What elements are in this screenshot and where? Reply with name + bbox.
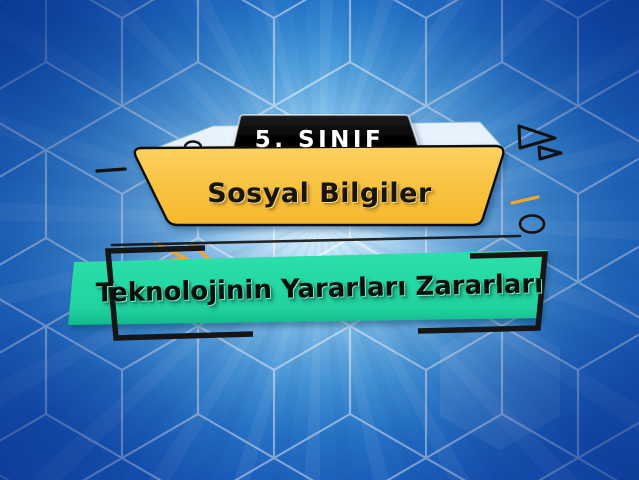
circle-outline-icon (520, 216, 544, 233)
dash-mark-icon (97, 169, 125, 171)
slide-canvas: 5. SINIF Sosyal Bilgiler Teknolojinin Ya… (0, 0, 639, 480)
subject-title: Sosyal Bilgiler (0, 178, 639, 209)
banner-group (0, 0, 639, 480)
grade-badge-label: 5. SINIF (0, 127, 639, 153)
thin-black-rule (112, 236, 520, 245)
